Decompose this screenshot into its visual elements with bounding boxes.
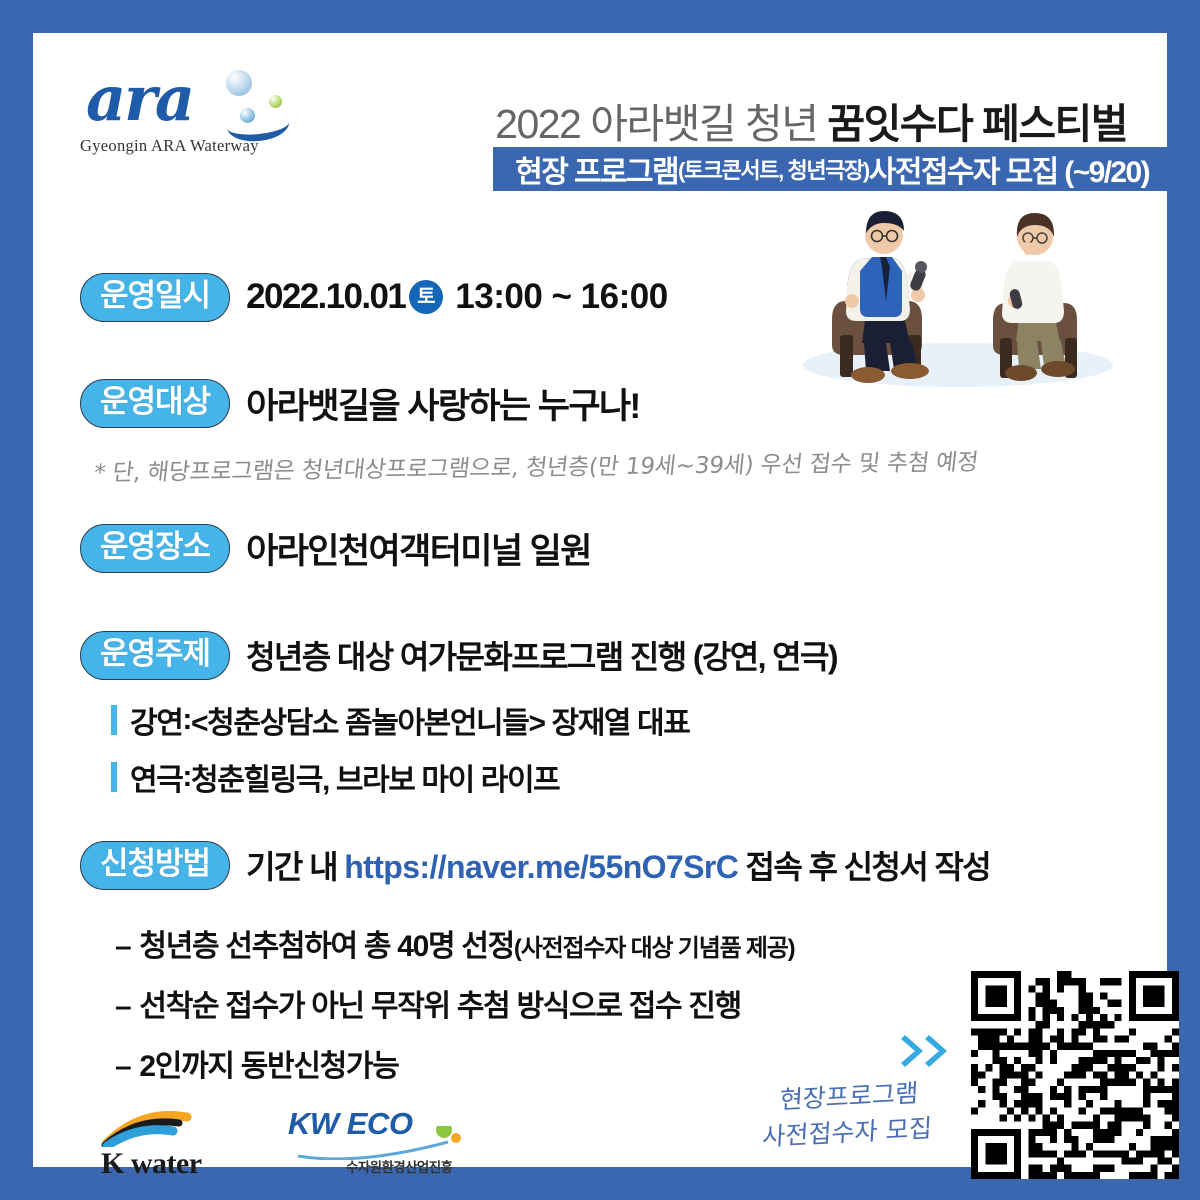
venue-value: 아라인천여객터미널 일원 xyxy=(246,523,591,574)
poster-inner-panel: ara Gyeongin ARA Waterway 2022 아라뱃길 청년 꿈… xyxy=(33,33,1167,1167)
audience-value: 아라뱃길을 사랑하는 누구나! xyxy=(246,378,640,429)
program-item-play: 연극 : 청춘힐링극, 브라보 마이 라이프 xyxy=(111,755,559,799)
poster-root: ara Gyeongin ARA Waterway 2022 아라뱃길 청년 꿈… xyxy=(0,0,1200,1200)
howto-suffix: 접속 후 신청서 작성 xyxy=(738,849,990,885)
ara-logo-subtitle: Gyeongin ARA Waterway xyxy=(80,136,308,156)
ara-logo: ara Gyeongin ARA Waterway xyxy=(78,68,308,173)
band-paren: (토크콘서트, 청년극장) xyxy=(678,153,869,185)
list-item: –선착순 접수가 아닌 무작위 추첨 방식으로 접수 진행 xyxy=(115,981,741,1025)
bubble-green-icon xyxy=(269,95,282,108)
band-lead: 현장 프로그램 xyxy=(515,147,678,191)
theme-value: 청년층 대상 여가문화프로그램 진행 (강연, 연극) xyxy=(246,632,837,678)
label-pill-venue: 운영장소 xyxy=(80,524,230,573)
program-kind-play: 연극 xyxy=(130,755,182,799)
label-pill-schedule: 운영일시 xyxy=(80,273,230,322)
program-detail-lecture: <청춘상담소 좀놀아본언니들> 장재열 대표 xyxy=(191,698,689,742)
bubble-small-icon xyxy=(240,108,255,123)
info-row-audience: 운영대상 아라뱃길을 사랑하는 누구나! xyxy=(80,378,640,429)
label-pill-theme: 운영주제 xyxy=(80,631,230,680)
schedule-value: 2022.10.01토13:00 ~ 16:00 xyxy=(246,277,668,317)
bullet-dash: – xyxy=(115,930,130,963)
bullet-dash: – xyxy=(115,990,130,1023)
band-tail: 사전접수자 모집 (~9/20) xyxy=(869,147,1149,191)
schedule-date: 2022.10.01 xyxy=(246,277,405,316)
accent-bar-icon xyxy=(111,762,117,792)
list-item: –청년층 선추첨하여 총 40명 선정(사전접수자 대상 기념품 제공) xyxy=(115,921,794,965)
bullet-paren: (사전접수자 대상 기념품 제공) xyxy=(514,935,795,962)
application-url-link[interactable]: https://naver.me/55nO7SrC xyxy=(344,849,738,885)
bubble-large-icon xyxy=(226,70,252,96)
bullet-bold: 총 40명 선정 xyxy=(364,930,514,963)
bullet-pre: 선착순 접수가 아닌 xyxy=(139,990,371,1023)
howto-prefix: 기간 내 xyxy=(246,849,344,885)
program-detail-play: 청춘힐링극, 브라보 마이 라이프 xyxy=(191,755,559,799)
list-item: –2인까지 동반신청가능 xyxy=(115,1041,399,1085)
title-highlight: 꿈잇수다 페스티벌 xyxy=(827,101,1127,147)
info-row-howto: 신청방법 기간 내 https://naver.me/55nO7SrC 접속 후… xyxy=(80,841,990,890)
program-sep-lecture: : xyxy=(182,703,191,737)
info-row-theme: 운영주제 청년층 대상 여가문화프로그램 진행 (강연, 연극) xyxy=(80,631,837,680)
program-kind-lecture: 강연 xyxy=(130,698,182,742)
info-row-schedule: 운영일시 2022.10.01토13:00 ~ 16:00 xyxy=(80,273,668,322)
double-chevron-right-icon xyxy=(901,1031,957,1076)
qr-code[interactable] xyxy=(971,971,1179,1179)
talk-concert-illustration xyxy=(788,193,1128,388)
kweco-logo: KW ECO 수자원환경산업진흥 xyxy=(288,1106,488,1181)
bullet-dash: – xyxy=(115,1050,130,1083)
qr-handwriting-caption: 현장프로그램 사전접수자 모집 xyxy=(731,1073,966,1156)
program-item-lecture: 강연 : <청춘상담소 좀놀아본언니들> 장재열 대표 xyxy=(111,698,689,742)
howto-value: 기간 내 https://naver.me/55nO7SrC 접속 후 신청서 … xyxy=(246,842,990,888)
day-badge-saturday: 토 xyxy=(409,280,443,314)
bullet-post: 동반신청가능 xyxy=(234,1050,399,1083)
title-prefix: 2022 아라뱃길 청년 xyxy=(495,101,827,147)
bullet-pre: 청년층 선추첨하여 xyxy=(139,930,363,963)
bullet-bold: 2인까지 xyxy=(139,1050,233,1083)
eligibility-note: * 단, 해당프로그램은 청년대상프로그램으로, 청년층(만 19세~39세) … xyxy=(92,443,980,488)
kwater-label: K water xyxy=(101,1147,202,1181)
info-row-venue: 운영장소 아라인천여객터미널 일원 xyxy=(80,523,591,574)
kwater-logo: K water xyxy=(101,1111,251,1181)
label-pill-howto: 신청방법 xyxy=(80,841,230,890)
page-title: 2022 아라뱃길 청년 꿈잇수다 페스티벌 xyxy=(495,90,1127,150)
subtitle-band: 현장 프로그램(토크콘서트, 청년극장) 사전접수자 모집 (~9/20) xyxy=(493,147,1167,191)
label-pill-audience: 운영대상 xyxy=(80,379,230,428)
bullet-bold: 무작위 추첨 xyxy=(371,990,510,1023)
program-sep-play: : xyxy=(182,760,191,794)
accent-bar-icon xyxy=(111,705,117,735)
bullet-post: 방식으로 접수 진행 xyxy=(509,990,741,1023)
kweco-subtitle: 수자원환경산업진흥 xyxy=(346,1156,452,1176)
schedule-time: 13:00 ~ 16:00 xyxy=(455,277,667,316)
